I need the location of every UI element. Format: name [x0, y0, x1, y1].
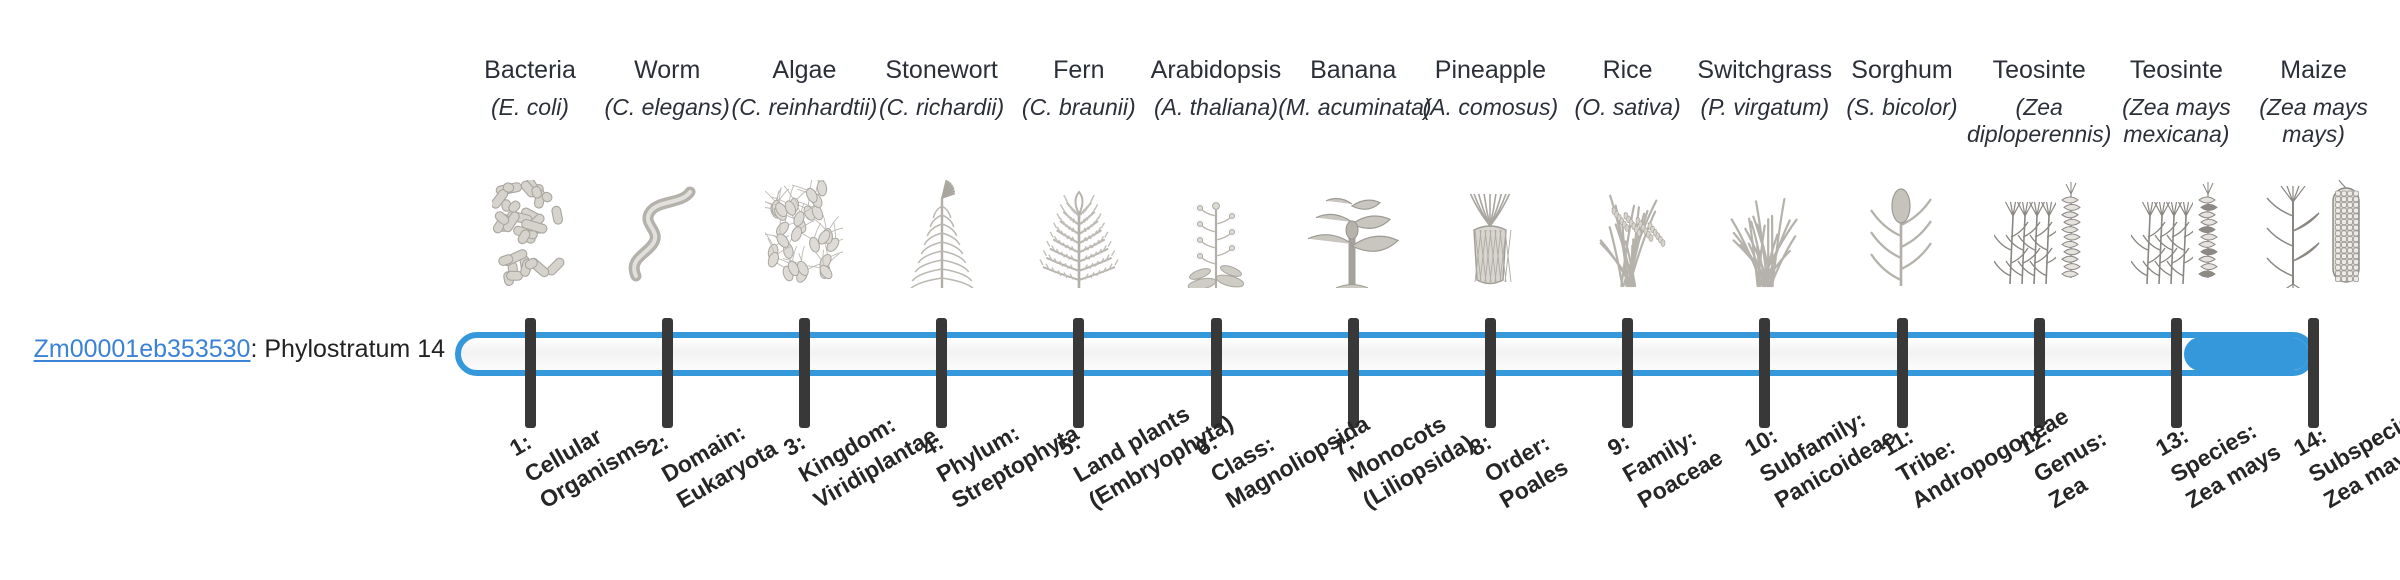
pineapple-illustration — [1415, 168, 1565, 288]
species-column-bacteria-0: Bacteria(E. coli) — [455, 55, 605, 121]
species-scientific-name: (E. coli) — [455, 94, 605, 121]
species-common-name: Banana — [1278, 55, 1428, 85]
species-common-name: Rice — [1553, 55, 1703, 85]
species-scientific-name: (Zea mays mexicana) — [2101, 94, 2251, 148]
species-column-teosinte-12: Teosinte(Zea mays mexicana) — [2101, 55, 2251, 148]
species-column-rice-8: Rice(O. sativa) — [1553, 55, 1703, 121]
species-scientific-name: (A. comosus) — [1415, 94, 1565, 121]
species-common-name: Bacteria — [455, 55, 605, 85]
species-column-teosinte-11: Teosinte(Zea diploperennis) — [1964, 55, 2114, 148]
species-common-name: Sorghum — [1827, 55, 1977, 85]
species-scientific-name: (O. sativa) — [1553, 94, 1703, 121]
green-algae-illustration — [729, 168, 879, 288]
gene-label-separator: : — [250, 335, 264, 363]
species-column-maize-13: Maize(Zea mays mays) — [2239, 55, 2389, 148]
species-column-switchgrass-9: Switchgrass(P. virgatum) — [1690, 55, 1840, 121]
bacteria-illustration — [455, 168, 605, 288]
species-scientific-name: (M. acuminata) — [1278, 94, 1428, 121]
species-common-name: Algae — [729, 55, 879, 85]
nematode-illustration — [592, 168, 742, 288]
species-common-name: Switchgrass — [1690, 55, 1840, 85]
rank-index: 1: — [505, 429, 536, 462]
species-column-fern-4: Fern(C. braunii) — [1004, 55, 1154, 121]
species-scientific-name: (C. elegans) — [592, 94, 742, 121]
species-scientific-name: (A. thaliana) — [1141, 94, 1291, 121]
teosinte-diploperennis-illustration — [1964, 168, 2114, 288]
species-column-stonewort-3: Stonewort(C. richardii) — [867, 55, 1017, 121]
species-common-name: Fern — [1004, 55, 1154, 85]
phylostratum-tick-1[interactable] — [525, 318, 536, 428]
species-scientific-name: (S. bicolor) — [1827, 94, 1977, 121]
arabidopsis-illustration — [1141, 168, 1291, 288]
teosinte-mexicana-illustration — [2101, 168, 2251, 288]
species-column-algae-2: Algae(C. reinhardtii) — [729, 55, 879, 121]
species-scientific-name: (Zea mays mays) — [2239, 94, 2389, 148]
species-scientific-name: (Zea diploperennis) — [1964, 94, 2114, 148]
species-column-banana-6: Banana(M. acuminata) — [1278, 55, 1428, 121]
species-scientific-name: (C. richardii) — [867, 94, 1017, 121]
species-common-name: Arabidopsis — [1141, 55, 1291, 85]
rice-plant-illustration — [1553, 168, 1703, 288]
fern-illustration — [1004, 168, 1154, 288]
phylostratigraphy-timeline: Zm00001eb353530: Phylostratum 14 Bacteri… — [0, 0, 2400, 580]
species-column-worm-1: Worm(C. elegans) — [592, 55, 742, 121]
gene-accession-link[interactable]: Zm00001eb353530 — [34, 335, 251, 363]
species-common-name: Teosinte — [1964, 55, 2114, 85]
species-common-name: Worm — [592, 55, 742, 85]
species-column-pineapple-7: Pineapple(A. comosus) — [1415, 55, 1565, 121]
gene-phylostratum-label: Zm00001eb353530: Phylostratum 14 — [0, 334, 445, 364]
phylostratum-value-text: Phylostratum 14 — [264, 335, 445, 363]
species-scientific-name: (C. braunii) — [1004, 94, 1154, 121]
species-column-sorghum-10: Sorghum(S. bicolor) — [1827, 55, 1977, 121]
species-scientific-name: (P. virgatum) — [1690, 94, 1840, 121]
species-scientific-name: (C. reinhardtii) — [729, 94, 879, 121]
maize-illustration — [2239, 168, 2389, 288]
species-common-name: Maize — [2239, 55, 2389, 85]
species-common-name: Teosinte — [2101, 55, 2251, 85]
species-common-name: Pineapple — [1415, 55, 1565, 85]
species-column-arabidopsis-5: Arabidopsis(A. thaliana) — [1141, 55, 1291, 121]
species-common-name: Stonewort — [867, 55, 1017, 85]
sorghum-illustration — [1827, 168, 1977, 288]
switchgrass-illustration — [1690, 168, 1840, 288]
stonewort-illustration — [867, 168, 1017, 288]
banana-plant-illustration — [1278, 168, 1428, 288]
